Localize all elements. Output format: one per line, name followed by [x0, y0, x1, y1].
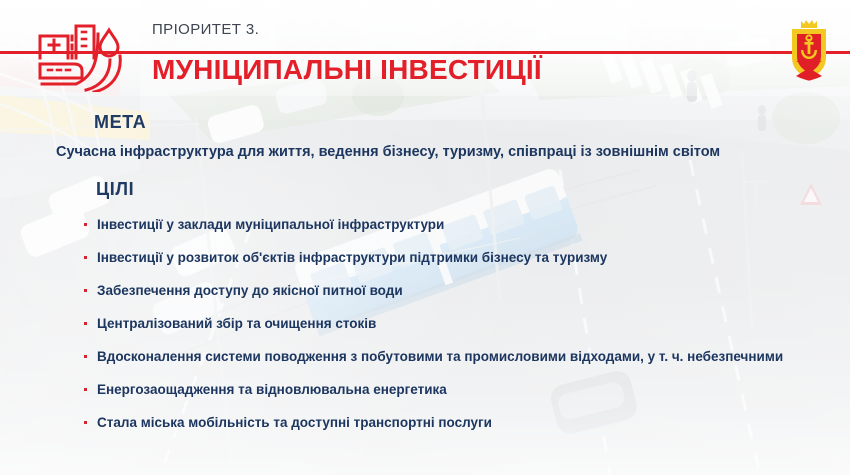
goal-label: Інвестиції у заклади муніципальної інфра…: [97, 217, 444, 233]
slide-content: МЕТА Сучасна інфраструктура для життя, в…: [0, 96, 850, 440]
meta-text: Сучасна інфраструктура для життя, веденн…: [56, 142, 756, 163]
bullet-icon: [84, 322, 87, 325]
bullet-icon: [84, 256, 87, 259]
bullet-icon: [84, 388, 87, 391]
list-item: Енергозаощадження та відновлювальна енер…: [84, 374, 850, 407]
goals-list: Інвестиції у заклади муніципальної інфра…: [0, 209, 850, 440]
bullet-icon: [84, 223, 87, 226]
goal-label: Забезпечення доступу до якісної питної в…: [97, 283, 403, 299]
bullet-icon: [84, 421, 87, 424]
list-item: Забезпечення доступу до якісної питної в…: [84, 275, 850, 308]
municipal-infrastructure-logo-icon: [28, 20, 136, 92]
priority-kicker: ПРІОРИТЕТ 3.: [152, 22, 259, 37]
list-item: Стала міська мобільність та доступні тра…: [84, 407, 850, 440]
list-item: Інвестиції у заклади муніципальної інфра…: [84, 209, 850, 242]
goal-label: Інвестиції у розвиток об'єктів інфрастру…: [97, 250, 607, 266]
goal-label: Вдосконалення системи поводження з побут…: [97, 349, 783, 365]
list-item: Інвестиції у розвиток об'єктів інфрастру…: [84, 242, 850, 275]
meta-heading: МЕТА: [94, 96, 850, 131]
goal-label: Централізований збір та очищення стоків: [97, 316, 376, 332]
bullet-icon: [84, 355, 87, 358]
odesa-coat-of-arms-icon: [786, 15, 832, 81]
slide-header: ПРІОРИТЕТ 3. МУНІЦИПАЛЬНІ ІНВЕСТИЦІЇ: [0, 0, 850, 96]
list-item: Вдосконалення системи поводження з побут…: [84, 341, 850, 374]
goal-label: Енергозаощадження та відновлювальна енер…: [97, 382, 447, 398]
header-titles: ПРІОРИТЕТ 3.: [152, 22, 259, 37]
goal-label: Стала міська мобільність та доступні тра…: [97, 415, 492, 431]
goals-heading: ЦІЛІ: [96, 180, 850, 198]
page-title: МУНІЦИПАЛЬНІ ІНВЕСТИЦІЇ: [152, 56, 542, 84]
bullet-icon: [84, 289, 87, 292]
list-item: Централізований збір та очищення стоків: [84, 308, 850, 341]
slide: ПРІОРИТЕТ 3. МУНІЦИПАЛЬНІ ІНВЕСТИЦІЇ: [0, 0, 850, 475]
